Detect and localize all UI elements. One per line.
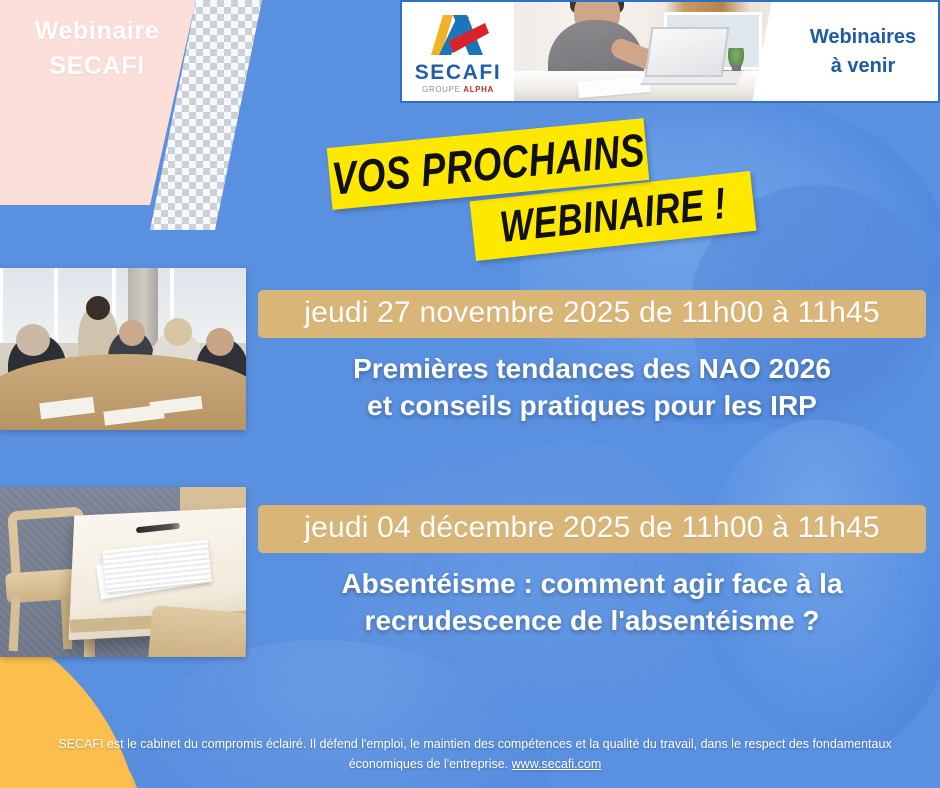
desk-foreground-chair <box>148 605 246 657</box>
session-2-title-line2: recrudescence de l'absentéisme ? <box>258 602 926 639</box>
session-1-title-line2: et conseils pratiques pour les IRP <box>258 387 926 424</box>
meeting-person-3-head <box>119 320 145 346</box>
banner-label-text: Webinaires à venir <box>810 23 916 81</box>
session-block-2: jeudi 04 décembre 2025 de 11h00 à 11h45 … <box>258 505 926 639</box>
banner-photo-woman-writing <box>514 2 788 101</box>
secafi-logo-mark-icon <box>427 11 489 59</box>
meeting-person-5-head <box>206 328 234 356</box>
session-1-title-line1: Premières tendances des NAO 2026 <box>258 350 926 387</box>
meeting-person-1-head <box>16 324 50 356</box>
session-thumbnail-1 <box>0 268 246 430</box>
banner-label-line2: à venir <box>810 52 916 81</box>
footer-website-link[interactable]: www.secafi.com <box>512 757 602 771</box>
session-2-title-line1: Absentéisme : comment agir face à la <box>258 565 926 602</box>
meeting-photo <box>0 268 246 430</box>
photo-laptop-screen <box>644 27 729 77</box>
meeting-person-4-head <box>164 318 192 346</box>
session-1-title: Premières tendances des NAO 2026 et cons… <box>258 350 926 424</box>
footer-text: SECAFI est le cabinet du compromis éclai… <box>58 737 891 771</box>
secafi-logo: SECAFI GROUPE ALPHA <box>402 2 514 101</box>
footer: SECAFI est le cabinet du compromis éclai… <box>50 734 900 774</box>
meeting-person-standing-head <box>86 296 110 320</box>
logo-sub-groupe: GROUPE <box>422 85 463 94</box>
secafi-logo-wordmark: SECAFI <box>415 62 502 83</box>
corner-title-line1: Webinaire <box>12 14 182 49</box>
session-thumbnail-2 <box>0 487 246 657</box>
session-2-title: Absentéisme : comment agir face à la rec… <box>258 565 926 639</box>
session-1-date: jeudi 27 novembre 2025 de 11h00 à 11h45 <box>258 290 926 338</box>
corner-title-line2: SECAFI <box>12 49 182 84</box>
banner-label-line1: Webinaires <box>810 23 916 52</box>
banner-label: Webinaires à venir <box>788 2 938 101</box>
session-2-date: jeudi 04 décembre 2025 de 11h00 à 11h45 <box>258 505 926 553</box>
secafi-logo-subtitle: GROUPE ALPHA <box>422 85 494 94</box>
corner-title: Webinaire SECAFI <box>12 14 182 83</box>
top-banner: SECAFI GROUPE ALPHA Webinaires à venir <box>400 0 940 103</box>
logo-sub-alpha: ALPHA <box>463 85 494 94</box>
empty-desk-photo <box>0 487 246 657</box>
session-block-1: jeudi 27 novembre 2025 de 11h00 à 11h45 … <box>258 290 926 424</box>
webinar-poster: Webinaire SECAFI SECAFI GROUPE ALPHA <box>0 0 940 788</box>
